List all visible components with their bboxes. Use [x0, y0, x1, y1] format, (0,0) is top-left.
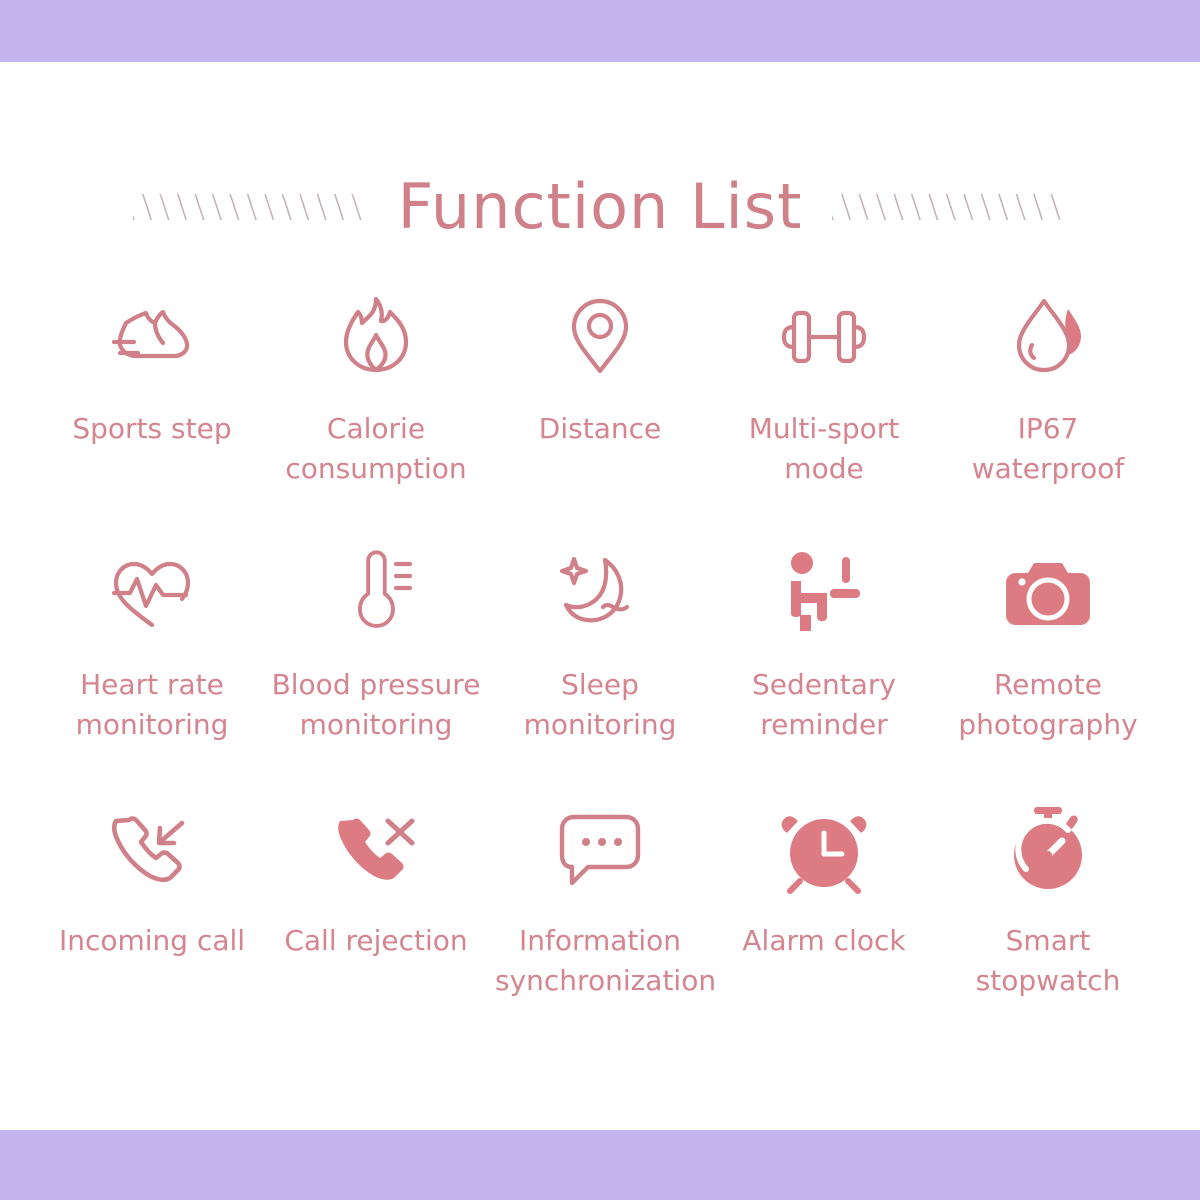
- phone-incoming-icon: [100, 797, 204, 901]
- feature-item-ip67-waterproof[interactable]: IP67 waterproof: [936, 277, 1160, 533]
- feature-label: Alarm clock: [742, 921, 905, 961]
- bottom-purple-band: [0, 1130, 1200, 1200]
- feature-label: Sports step: [72, 409, 231, 449]
- feature-label: Smart stopwatch: [976, 921, 1121, 1001]
- feature-label: Incoming call: [59, 921, 245, 961]
- feature-row: Incoming call Call rejection: [40, 789, 1160, 1045]
- feature-item-information-synchronization[interactable]: Information synchronization: [488, 789, 712, 1045]
- function-list-page: Function List Sports step: [0, 0, 1200, 1200]
- top-purple-band: [0, 0, 1200, 62]
- feature-item-calorie-consumption[interactable]: Calorie consumption: [264, 277, 488, 533]
- feature-item-sedentary-reminder[interactable]: Sedentary reminder: [712, 533, 936, 789]
- map-pin-icon: [548, 285, 652, 389]
- feature-item-distance[interactable]: Distance: [488, 277, 712, 533]
- feature-label: Call rejection: [284, 921, 467, 961]
- heart-pulse-icon: [100, 541, 204, 645]
- alarm-clock-icon: [772, 797, 876, 901]
- feature-row: Heart rate monitoring Blood pressure mon…: [40, 533, 1160, 789]
- feature-item-call-rejection[interactable]: Call rejection: [264, 789, 488, 1045]
- feature-item-multi-sport-mode[interactable]: Multi-sport mode: [712, 277, 936, 533]
- flame-icon: [324, 285, 428, 389]
- hatch-left-decoration: [133, 194, 368, 220]
- feature-label: Heart rate monitoring: [76, 665, 229, 745]
- feature-item-alarm-clock[interactable]: Alarm clock: [712, 789, 936, 1045]
- thermometer-icon: [324, 541, 428, 645]
- feature-item-remote-photography[interactable]: Remote photography: [936, 533, 1160, 789]
- feature-row: Sports step Calorie consumption: [40, 277, 1160, 533]
- feature-item-smart-stopwatch[interactable]: Smart stopwatch: [936, 789, 1160, 1045]
- feature-label: IP67 waterproof: [972, 409, 1125, 489]
- hatch-right-decoration: [832, 194, 1067, 220]
- feature-label: Blood pressure monitoring: [272, 665, 481, 745]
- seated-person-desk-icon: [772, 541, 876, 645]
- stopwatch-icon: [996, 797, 1100, 901]
- feature-grid: Sports step Calorie consumption: [40, 277, 1160, 1045]
- page-title: Function List: [398, 176, 803, 238]
- feature-item-sleep-monitoring[interactable]: Sleep monitoring: [488, 533, 712, 789]
- speech-bubble-dots-icon: [548, 797, 652, 901]
- feature-label: Distance: [539, 409, 661, 449]
- feature-item-heart-rate-monitoring[interactable]: Heart rate monitoring: [40, 533, 264, 789]
- feature-label: Calorie consumption: [285, 409, 466, 489]
- running-shoe-icon: [100, 285, 204, 389]
- phone-reject-icon: [324, 797, 428, 901]
- content-canvas: Function List Sports step: [0, 62, 1200, 1130]
- feature-label: Multi-sport mode: [749, 409, 900, 489]
- feature-item-sports-step[interactable]: Sports step: [40, 277, 264, 533]
- feature-item-incoming-call[interactable]: Incoming call: [40, 789, 264, 1045]
- camera-icon: [996, 541, 1100, 645]
- feature-label: Remote photography: [958, 665, 1137, 745]
- feature-label: Sedentary reminder: [752, 665, 896, 745]
- title-row: Function List: [0, 152, 1200, 262]
- water-drop-icon: [996, 285, 1100, 389]
- dumbbell-icon: [772, 285, 876, 389]
- moon-star-icon: [548, 541, 652, 645]
- feature-item-blood-pressure-monitoring[interactable]: Blood pressure monitoring: [264, 533, 488, 789]
- feature-label: Sleep monitoring: [524, 665, 677, 745]
- feature-label: Information synchronization: [495, 921, 705, 1001]
